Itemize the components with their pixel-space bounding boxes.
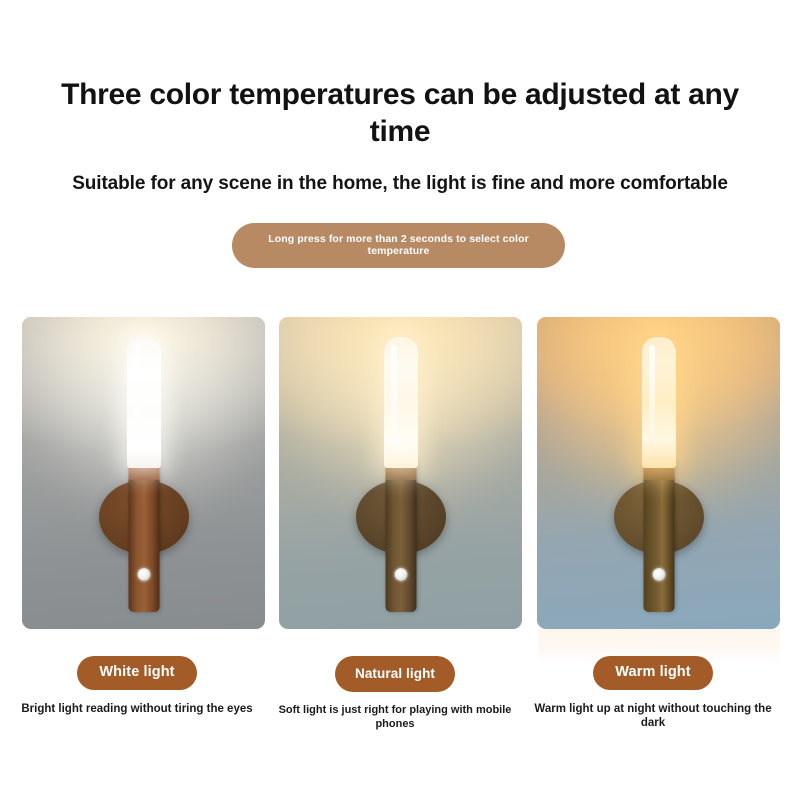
mode-caption-white-light: Bright light reading without tiring the … xyxy=(8,702,266,716)
mode-caption-natural-light: Soft light is just right for playing wit… xyxy=(266,704,524,731)
mode-pill-label: Natural light xyxy=(355,667,435,681)
page-title: Three color temperatures can be adjusted… xyxy=(46,76,754,150)
wall-lamp-warm xyxy=(599,317,719,629)
tube-highlight xyxy=(391,345,397,455)
page-subtitle: Suitable for any scene in the home, the … xyxy=(30,172,770,196)
mode-pill-warm-light: Warm light xyxy=(593,656,713,690)
product-photo-white-light xyxy=(22,317,265,629)
product-photo-warm-light xyxy=(537,317,780,629)
mode-label-white-light: White light Bright light reading without… xyxy=(8,656,266,716)
mode-pill-label: White light xyxy=(99,665,174,680)
motion-sensor-button xyxy=(652,568,665,581)
product-photo-row xyxy=(0,317,800,629)
wood-body-bar xyxy=(643,460,674,612)
tube-highlight xyxy=(649,345,655,455)
mode-label-warm-light: Warm light Warm light up at night withou… xyxy=(524,656,782,731)
wall-lamp-natural xyxy=(341,317,461,629)
light-tube xyxy=(384,337,418,468)
mode-pill-natural-light: Natural light xyxy=(335,656,455,692)
long-press-hint-badge: Long press for more than 2 seconds to se… xyxy=(232,223,565,268)
wall-lamp-white xyxy=(84,317,204,629)
mode-label-natural-light: Natural light Soft light is just right f… xyxy=(266,656,524,731)
wood-body-bar xyxy=(128,460,159,612)
motion-sensor-button xyxy=(394,568,407,581)
mode-caption-warm-light: Warm light up at night without touching … xyxy=(524,702,782,731)
product-infographic-page: Three color temperatures can be adjusted… xyxy=(0,0,800,800)
motion-sensor-button xyxy=(137,568,150,581)
light-tube xyxy=(642,337,676,468)
light-tube xyxy=(127,337,161,468)
tube-highlight xyxy=(134,345,140,455)
long-press-hint-text: Long press for more than 2 seconds to se… xyxy=(258,234,539,258)
wood-body-bar xyxy=(385,460,416,612)
mode-pill-label: Warm light xyxy=(615,665,690,680)
mode-pill-white-light: White light xyxy=(77,656,197,690)
product-photo-natural-light xyxy=(279,317,522,629)
